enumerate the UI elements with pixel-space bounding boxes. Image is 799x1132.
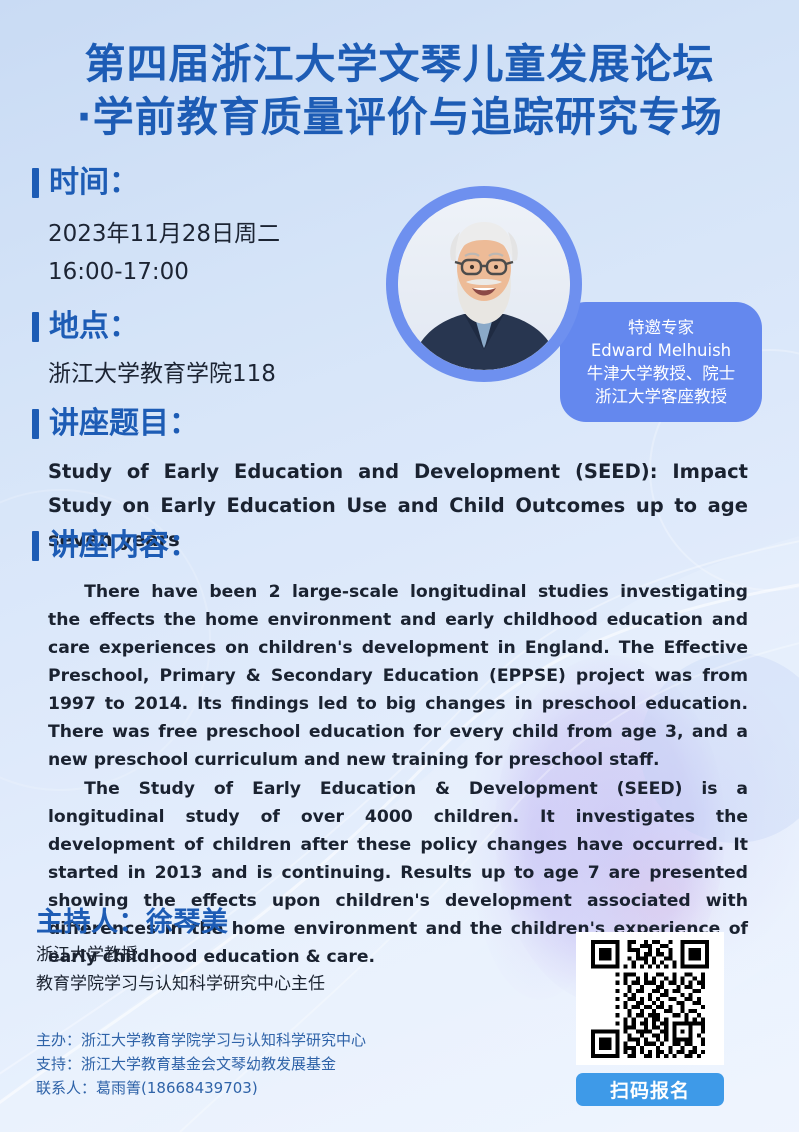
accent-bar-icon <box>32 168 39 198</box>
footer-support: 支持：浙江大学教育基金会文琴幼教发展基金 <box>36 1052 366 1076</box>
time-heading-label: 时间： <box>49 168 139 198</box>
accent-bar-icon <box>32 409 39 439</box>
topic-heading-label: 讲座题目： <box>49 409 199 439</box>
footer-organizer: 主办：浙江大学教育学院学习与认知科学研究中心 <box>36 1028 366 1052</box>
speaker-name: Edward Melhuish <box>591 339 731 362</box>
content-heading: 讲座内容： <box>32 531 199 561</box>
topic-heading: 讲座题目： <box>32 409 199 439</box>
footer-contact: 联系人：葛雨箐(18668439703) <box>36 1076 366 1100</box>
host-affiliation-1: 浙江大学教授 <box>36 942 138 968</box>
title-line-1: 第四届浙江大学文琴儿童发展论坛 <box>18 38 781 91</box>
content-heading-label: 讲座内容： <box>49 531 199 561</box>
event-date: 2023年11月28日周二 <box>48 215 280 253</box>
time-values: 2023年11月28日周二 16:00-17:00 <box>48 215 280 291</box>
poster-title: 第四届浙江大学文琴儿童发展论坛 ·学前教育质量评价与追踪研究专场 <box>0 38 799 144</box>
event-location: 浙江大学教育学院118 <box>48 355 276 393</box>
title-line-2: ·学前教育质量评价与追踪研究专场 <box>18 91 781 144</box>
place-heading: 地点： <box>32 312 139 342</box>
speaker-portrait <box>398 198 570 370</box>
host-heading: 主持人：徐琴美 <box>36 900 229 939</box>
register-button[interactable]: 扫码报名 <box>576 1073 724 1106</box>
speaker-role: 特邀专家 <box>628 316 694 339</box>
place-heading-label: 地点： <box>49 312 139 342</box>
speaker-card: 特邀专家 Edward Melhuish 牛津大学教授、院士 浙江大学客座教授 <box>386 186 766 426</box>
footer-credits: 主办：浙江大学教育学院学习与认知科学研究中心 支持：浙江大学教育基金会文琴幼教发… <box>36 1028 366 1100</box>
abstract-paragraph-1: There have been 2 large-scale longitudin… <box>48 578 748 774</box>
poster-root: 第四届浙江大学文琴儿童发展论坛 ·学前教育质量评价与追踪研究专场 时间： 202… <box>0 0 799 1132</box>
event-time-range: 16:00-17:00 <box>48 253 280 291</box>
time-heading: 时间： <box>32 168 139 198</box>
qr-section: 扫码报名 <box>576 932 768 1112</box>
speaker-title-2: 浙江大学客座教授 <box>595 385 727 408</box>
qr-code-icon[interactable] <box>576 932 724 1065</box>
accent-bar-icon <box>32 312 39 342</box>
host-affiliation-2: 教育学院学习与认知科学研究中心主任 <box>36 971 325 997</box>
speaker-title-1: 牛津大学教授、院士 <box>587 362 736 385</box>
accent-bar-icon <box>32 531 39 561</box>
speaker-info-box: 特邀专家 Edward Melhuish 牛津大学教授、院士 浙江大学客座教授 <box>560 302 762 422</box>
